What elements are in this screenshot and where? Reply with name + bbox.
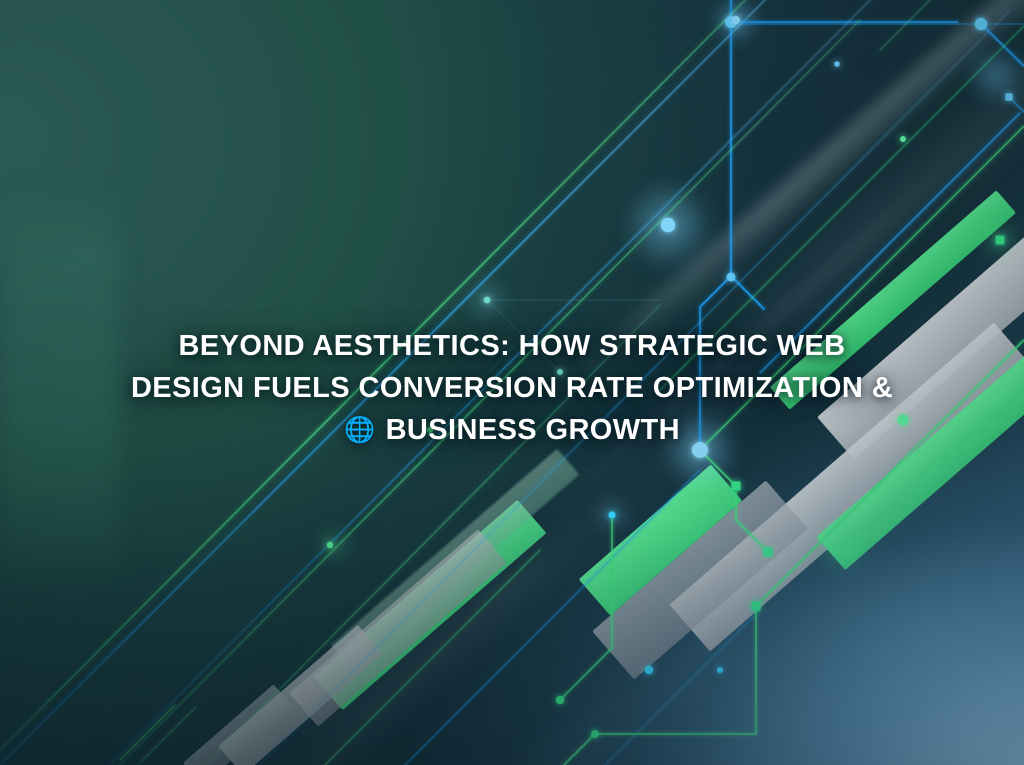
network-node [556,696,564,704]
network-line [300,550,540,765]
network-node [751,601,760,610]
bar-grey-corner [183,684,293,765]
headline-line-1: BEYOND AESTHETICS: HOW STRATEGIC WEB [96,325,928,367]
bar-grey-left [289,529,507,726]
network-node [327,542,333,548]
network-node [900,136,906,142]
light-streak [468,547,811,765]
headline-line-2: DESIGN FUELS CONVERSION RATE OPTIMIZATIO… [96,367,928,409]
glow-blob [314,525,354,565]
network-line [731,24,764,309]
bar-grey-lower-left [218,625,383,765]
network-line [140,707,196,763]
network-node [645,666,653,674]
network-node [591,730,599,738]
headline-line-3-text: BUSINESS GROWTH [386,414,680,446]
light-streak [223,477,638,765]
network-line [880,0,1024,50]
network-node [725,16,737,28]
network-line [330,445,430,545]
network-line [700,450,768,552]
network-line [731,0,958,22]
network-node [731,481,740,490]
hero-headline: BEYOND AESTHETICS: HOW STRATEGIC WEB DES… [0,325,1024,451]
bar-teal-left [331,449,580,671]
network-line [600,610,760,765]
network-line [981,24,1024,66]
network-line [562,606,756,765]
network-node [732,16,740,24]
glow-blob [622,179,714,271]
globe-icon: 🌐 [344,416,377,444]
network-node [661,218,675,232]
glow-blob [465,278,509,322]
network-line [1009,97,1024,112]
glow-blob [812,517,868,573]
network-line [380,470,700,765]
network-node [608,511,615,518]
bar-green-left [314,500,547,710]
glow-blob [978,218,1022,262]
headline-line-3: 🌐 BUSINESS GROWTH [96,409,928,451]
network-node [834,61,840,67]
bar-grey-center [592,480,808,679]
network-node [764,548,773,557]
network-line [120,705,175,760]
light-streak [150,588,450,765]
glow-blob [966,45,1024,105]
network-node [1005,93,1012,100]
glow-blob [592,495,632,535]
hero-banner: BEYOND AESTHETICS: HOW STRATEGIC WEB DES… [0,0,1024,765]
bar-green-center [578,464,742,615]
glow-blob [710,0,762,46]
network-node [484,297,491,304]
network-node [996,236,1005,245]
network-node [727,273,736,282]
network-line [560,515,612,700]
network-node [975,18,987,30]
network-node [717,667,723,673]
